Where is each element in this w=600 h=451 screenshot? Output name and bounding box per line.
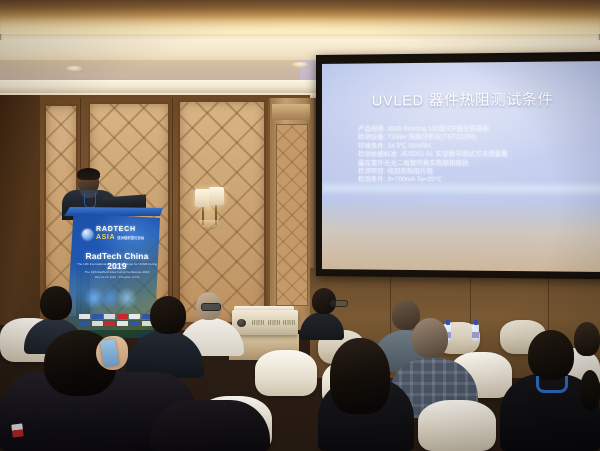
- projector-vent-3: [283, 320, 295, 325]
- audience-lanyard-right: [536, 376, 568, 393]
- chair-front-2: [418, 400, 496, 451]
- screen-light-streak: [322, 181, 600, 196]
- slide-body: 产品规格: 3535 Molding 120度ICP氮化铝基板 检测设备: T3…: [358, 125, 589, 185]
- projector-lens-icon: [237, 319, 246, 327]
- ceiling-downlight-2: [292, 62, 308, 67]
- podium-subline-2: The 13th RadTech Asia Curing Conference …: [77, 270, 157, 274]
- podium-subline: The 13th International Conference & Expo…: [77, 262, 157, 274]
- audience-head-mid-2: [150, 296, 186, 334]
- podium-wave-graphic: [82, 285, 150, 311]
- projector-vent-1: [252, 320, 264, 325]
- audience-head-edge-1: [574, 322, 600, 356]
- projection-screen: UVLED 器件热阻测试条件 产品规格: 3535 Molding 120度IC…: [316, 52, 600, 280]
- sponsor-logo-row-2: [79, 321, 153, 326]
- door-frame[interactable]: [268, 98, 316, 330]
- projector-vent-2: [268, 320, 280, 325]
- audience-torso-front-center: [150, 400, 270, 451]
- audience-head-edge-2: [580, 370, 600, 410]
- radtech-globe-icon: [82, 229, 93, 240]
- projection-screen-surface: UVLED 器件热阻测试条件 产品规格: 3535 Molding 120度IC…: [322, 61, 600, 272]
- door-quilted-inset: [276, 124, 308, 306]
- audience-head-plaid: [412, 318, 448, 358]
- speaker-lanyard: [84, 193, 96, 208]
- slide-title: UVLED 器件热阻测试条件: [322, 88, 600, 111]
- audience-head-longhair: [330, 338, 390, 414]
- conference-photo: UVLED 器件热阻测试条件 产品规格: 3535 Molding 120度IC…: [0, 0, 600, 451]
- sunglasses-icon: [201, 303, 221, 311]
- radtech-logo-line2: ASIA亚洲辐射固化协会: [96, 234, 144, 241]
- door-header-panel: [272, 104, 310, 120]
- eyeglasses-icon: [330, 300, 348, 307]
- sconce-shade-left: [195, 189, 210, 207]
- podium-date-line: May 21-23, 2019 · Shanghai, China: [77, 275, 157, 279]
- podium-subline-1: The 13th International Conference & Expo…: [77, 262, 157, 270]
- wall-panel-quilted-3: [178, 100, 266, 324]
- name-badge: [11, 423, 24, 437]
- speaker-hair: [77, 168, 100, 180]
- water-bottle-2[interactable]: [472, 324, 479, 341]
- podium-banner: RADTECH ASIA亚洲辐射固化协会 RadTech China 2019 …: [66, 213, 160, 338]
- sconce-shade-right: [209, 187, 224, 205]
- wall-seam-2: [172, 98, 173, 324]
- sponsor-logo-row-1: [79, 314, 153, 319]
- slide-line-5: 露在紫外光光二极管的真实热阻和阻抗: [358, 159, 589, 168]
- screen-washed-lower-area: [322, 199, 600, 272]
- ceiling-downlight-1: [66, 66, 82, 71]
- radtech-asia-text: ASIA: [96, 234, 115, 241]
- audience-head-right: [528, 330, 574, 380]
- chair-mid-2: [255, 350, 317, 396]
- radtech-logo-line1: RADTECH: [96, 226, 136, 233]
- radtech-asia-subtext: 亚洲辐射固化协会: [117, 236, 144, 240]
- audience-head-mid-1: [40, 286, 72, 320]
- slide-line-4: 检测依据标准: JESD51-51 实证数学测试方法测量暴: [358, 151, 589, 160]
